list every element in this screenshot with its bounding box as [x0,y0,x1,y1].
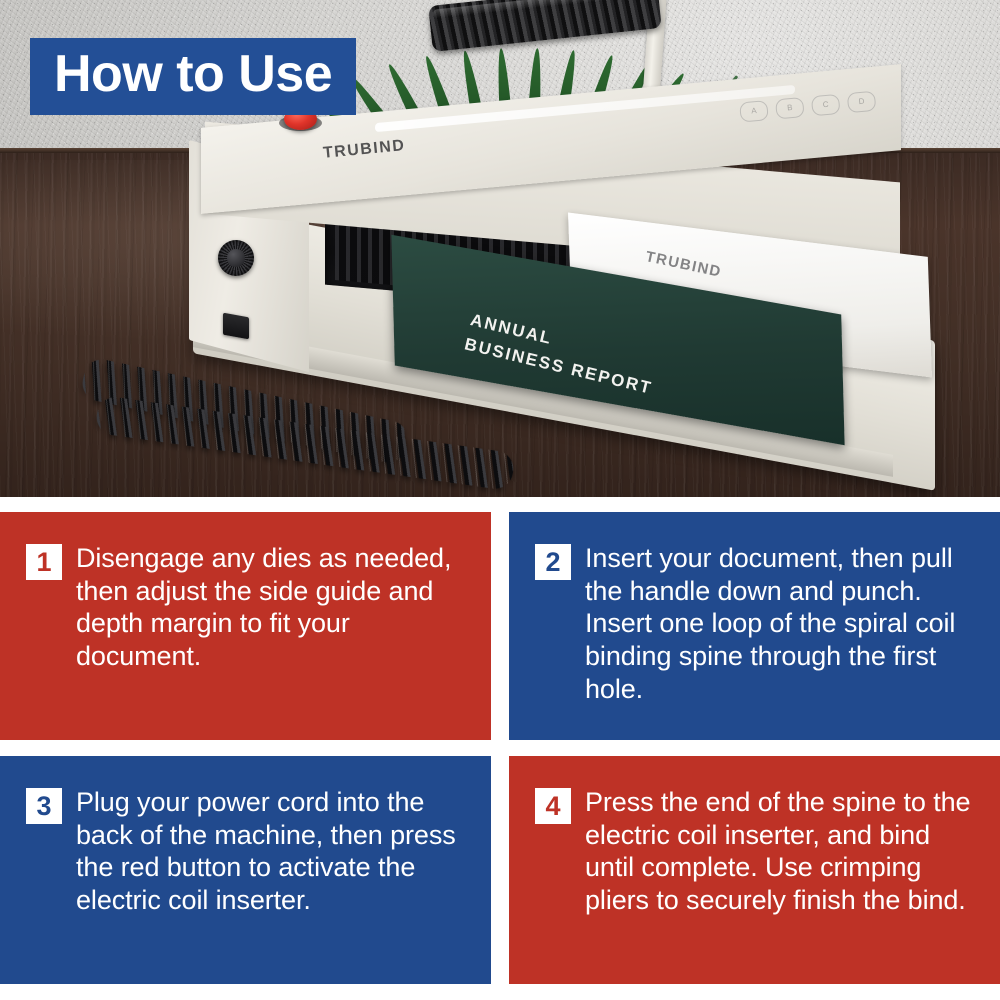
coil-binding-machine: A B C D TRUBIND TRUBIND ANNUAL BUSINESS … [175,60,920,480]
step-card-1: 1 Disengage any dies as needed, then adj… [0,512,491,740]
depth-margin-knob[interactable] [218,240,254,276]
step-number-badge: 4 [535,788,571,824]
dial-label: D [847,91,877,113]
step-number-badge: 2 [535,544,571,580]
step-card-4: 4 Press the end of the spine to the elec… [509,756,1000,984]
step-text: Disengage any dies as needed, then adjus… [76,542,469,673]
dial-label: B [775,97,805,119]
how-to-use-infographic: A B C D TRUBIND TRUBIND ANNUAL BUSINESS … [0,0,1000,1000]
step-text: Press the end of the spine to the electr… [585,786,978,917]
side-guide-tab[interactable] [223,313,249,340]
steps-grid: 1 Disengage any dies as needed, then adj… [0,512,1000,1000]
step-card-2: 2 Insert your document, then pull the ha… [509,512,1000,740]
step-number-badge: 3 [26,788,62,824]
product-photo: A B C D TRUBIND TRUBIND ANNUAL BUSINESS … [0,0,1000,497]
step-text: Insert your document, then pull the hand… [585,542,978,705]
step-text: Plug your power cord into the back of th… [76,786,469,917]
title-banner: How to Use [30,38,356,115]
step-number-badge: 1 [26,544,62,580]
step-card-3: 3 Plug your power cord into the back of … [0,756,491,984]
dial-label: C [811,94,841,116]
page-title: How to Use [54,47,332,102]
dial-label: A [739,100,769,122]
